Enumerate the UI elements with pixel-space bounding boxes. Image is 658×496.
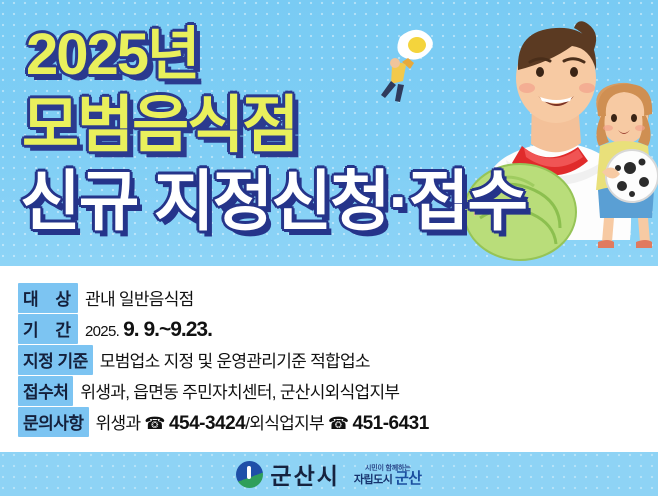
footer-slogan-line2: 자립도시 군산 (354, 474, 422, 485)
telephone-icon: ☎ (144, 414, 164, 433)
footer-slogan-text: 자립도시 (354, 474, 392, 486)
telephone-icon-2: ☎ (328, 414, 348, 433)
inquiry-contact1-name: 위생과 (96, 414, 141, 433)
hero-banner: 2025년 모범음식점 신규 지정신청·접수 (0, 0, 658, 266)
gunsan-emblem-icon (236, 461, 263, 488)
info-value-period: 2025. 9. 9.~9.23. (85, 318, 212, 342)
info-label-inquiry: 문의사항 (18, 407, 89, 437)
title-line-2: 모범음식점 (22, 93, 297, 159)
inquiry-contact1-phone[interactable]: 454-3424 (169, 413, 245, 434)
info-value-inquiry: 위생과 ☎ 454-3424/외식업지부 ☎ 451-6431 (96, 409, 429, 435)
period-dates: 9. 9.~9.23. (123, 318, 212, 341)
title-line-3: 신규 지정신청·접수 (20, 166, 526, 236)
info-label-reception: 접수처 (18, 376, 73, 406)
poster: 2025년 모범음식점 신규 지정신청·접수 대 상 관내 일반음식점 기 간 … (0, 0, 658, 496)
footer-slogan-brand: 군산 (395, 470, 422, 487)
gunsan-city-logo: 군산시 (236, 457, 339, 491)
info-row-period: 기 간 2025. 9. 9.~9.23. (18, 314, 498, 339)
info-value-target: 관내 일반음식점 (85, 285, 194, 310)
info-label-criteria: 지정 기준 (18, 345, 93, 375)
period-year: 2025. (85, 323, 119, 340)
info-label-period: 기 간 (18, 314, 78, 344)
info-row-reception: 접수처 위생과, 읍면동 주민자치센터, 군산시외식업지부 (18, 376, 498, 401)
info-row-criteria: 지정 기준 모범업소 지정 및 운영관리기준 적합업소 (18, 345, 498, 370)
inquiry-contact2-phone[interactable]: 451-6431 (353, 413, 429, 434)
info-row-inquiry: 문의사항 위생과 ☎ 454-3424/외식업지부 ☎ 451-6431 (18, 407, 498, 432)
info-value-criteria: 모범업소 지정 및 운영관리기준 적합업소 (100, 347, 370, 372)
info-value-reception: 위생과, 읍면동 주민자치센터, 군산시외식업지부 (80, 378, 399, 403)
inquiry-contact2-name: 외식업지부 (249, 414, 324, 433)
info-label-target: 대 상 (18, 283, 78, 313)
info-rows: 대 상 관내 일반음식점 기 간 2025. 9. 9.~9.23. 지정 기준… (18, 283, 498, 438)
gunsan-city-name: 군산시 (270, 457, 339, 491)
title-line-1: 2025년 (26, 24, 198, 86)
footer-slogan: 시민이 함께하는 자립도시 군산 (354, 464, 422, 485)
info-row-target: 대 상 관내 일반음식점 (18, 283, 498, 308)
footer-bar: 군산시 시민이 함께하는 자립도시 군산 (0, 452, 658, 496)
poster-title: 2025년 모범음식점 신규 지정신청·접수 (0, 0, 658, 266)
info-panel: 대 상 관내 일반음식점 기 간 2025. 9. 9.~9.23. 지정 기준… (0, 266, 658, 452)
